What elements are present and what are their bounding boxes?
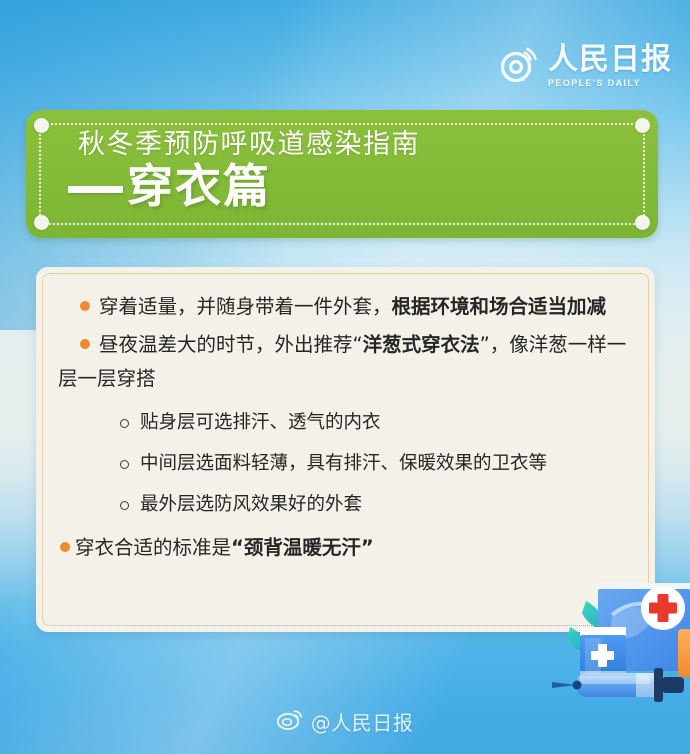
sub-item-list: 贴身层可选排汗、透气的内衣 中间层选面料轻薄，具有排汗、保暖效果的卫衣等 最外层… [58,402,639,525]
sub-item: 中间层选面料轻薄，具有排汗、保暖效果的卫衣等 [58,443,639,484]
hollow-circle-icon [120,460,129,469]
banner-subtitle: 穿衣篇 [127,163,271,209]
title-banner: 秋冬季预防呼吸道感染指南 穿衣篇 [26,110,658,238]
bullet-dot-icon [80,339,90,349]
bullet-dot-icon [80,301,90,311]
weibo-watermark: @人民日报 [0,707,690,736]
masthead-logo: 人民日报 PEOPLE'S DAILY [496,43,672,89]
bullet-1-emphasis: 根据环境和场合适当加减 [392,295,607,318]
bullet-3-text: 穿衣合适的标准是 [75,536,231,559]
hollow-circle-icon [120,501,129,510]
weibo-icon [277,708,303,735]
brand-name-en: PEOPLE'S DAILY [548,79,641,88]
bullet-dot-icon [60,542,70,552]
bullet-item-1: 穿着适量，并随身带着一件外套，根据环境和场合适当加减 [58,290,639,324]
brand-name-cn: 人民日报 [548,45,672,75]
at-logo-icon [496,43,542,89]
card-body: 穿着适量，并随身带着一件外套，根据环境和场合适当加减 昼夜温差大的时节，外出推荐… [58,290,639,618]
banner-corner-dot-top-left [34,118,49,133]
content-card: 穿着适量，并随身带着一件外套，根据环境和场合适当加减 昼夜温差大的时节，外出推荐… [36,267,655,632]
sub-item-label: 中间层选面料轻薄，具有排汗、保暖效果的卫衣等 [140,453,547,474]
banner-dash-icon [68,186,123,193]
banner-corner-dot-bottom-left [34,215,49,230]
sub-item: 最外层选防风效果好的外套 [58,484,639,525]
poster-root: 人民日报 PEOPLE'S DAILY 秋冬季预防呼吸道感染指南 穿衣篇 穿着适… [0,0,690,754]
bullet-2-text: 昼夜温差大的时节，外出推荐“ [99,333,363,356]
bullet-item-2: 昼夜温差大的时节，外出推荐“洋葱式穿衣法”，像洋葱一样一层一层穿搭 [58,328,639,396]
bullet-2-emphasis: 洋葱式穿衣法 [363,333,480,356]
bullet-3-emphasis: “颈背温暖无汗” [231,536,374,559]
sub-item: 贴身层可选排汗、透气的内衣 [58,402,639,443]
bullet-item-3: 穿衣合适的标准是“颈背温暖无汗” [58,531,639,565]
sub-item-label: 贴身层可选排汗、透气的内衣 [140,412,381,433]
banner-subtitle-row: 穿衣篇 [68,163,271,209]
sub-item-label: 最外层选防风效果好的外套 [140,494,362,515]
brand-text: 人民日报 PEOPLE'S DAILY [548,45,672,88]
syringe-icon [552,668,684,702]
bullet-1-text: 穿着适量，并随身带着一件外套， [99,295,392,318]
bottle [678,629,690,677]
weibo-handle: @人民日报 [311,707,414,736]
banner-title: 秋冬季预防呼吸道感染指南 [78,130,420,160]
banner-corner-dot-top-right [635,118,650,133]
banner-corner-dot-bottom-right [635,215,650,230]
medicine-box [580,635,626,675]
hollow-circle-icon [120,419,129,428]
white-cross-icon [591,644,614,667]
